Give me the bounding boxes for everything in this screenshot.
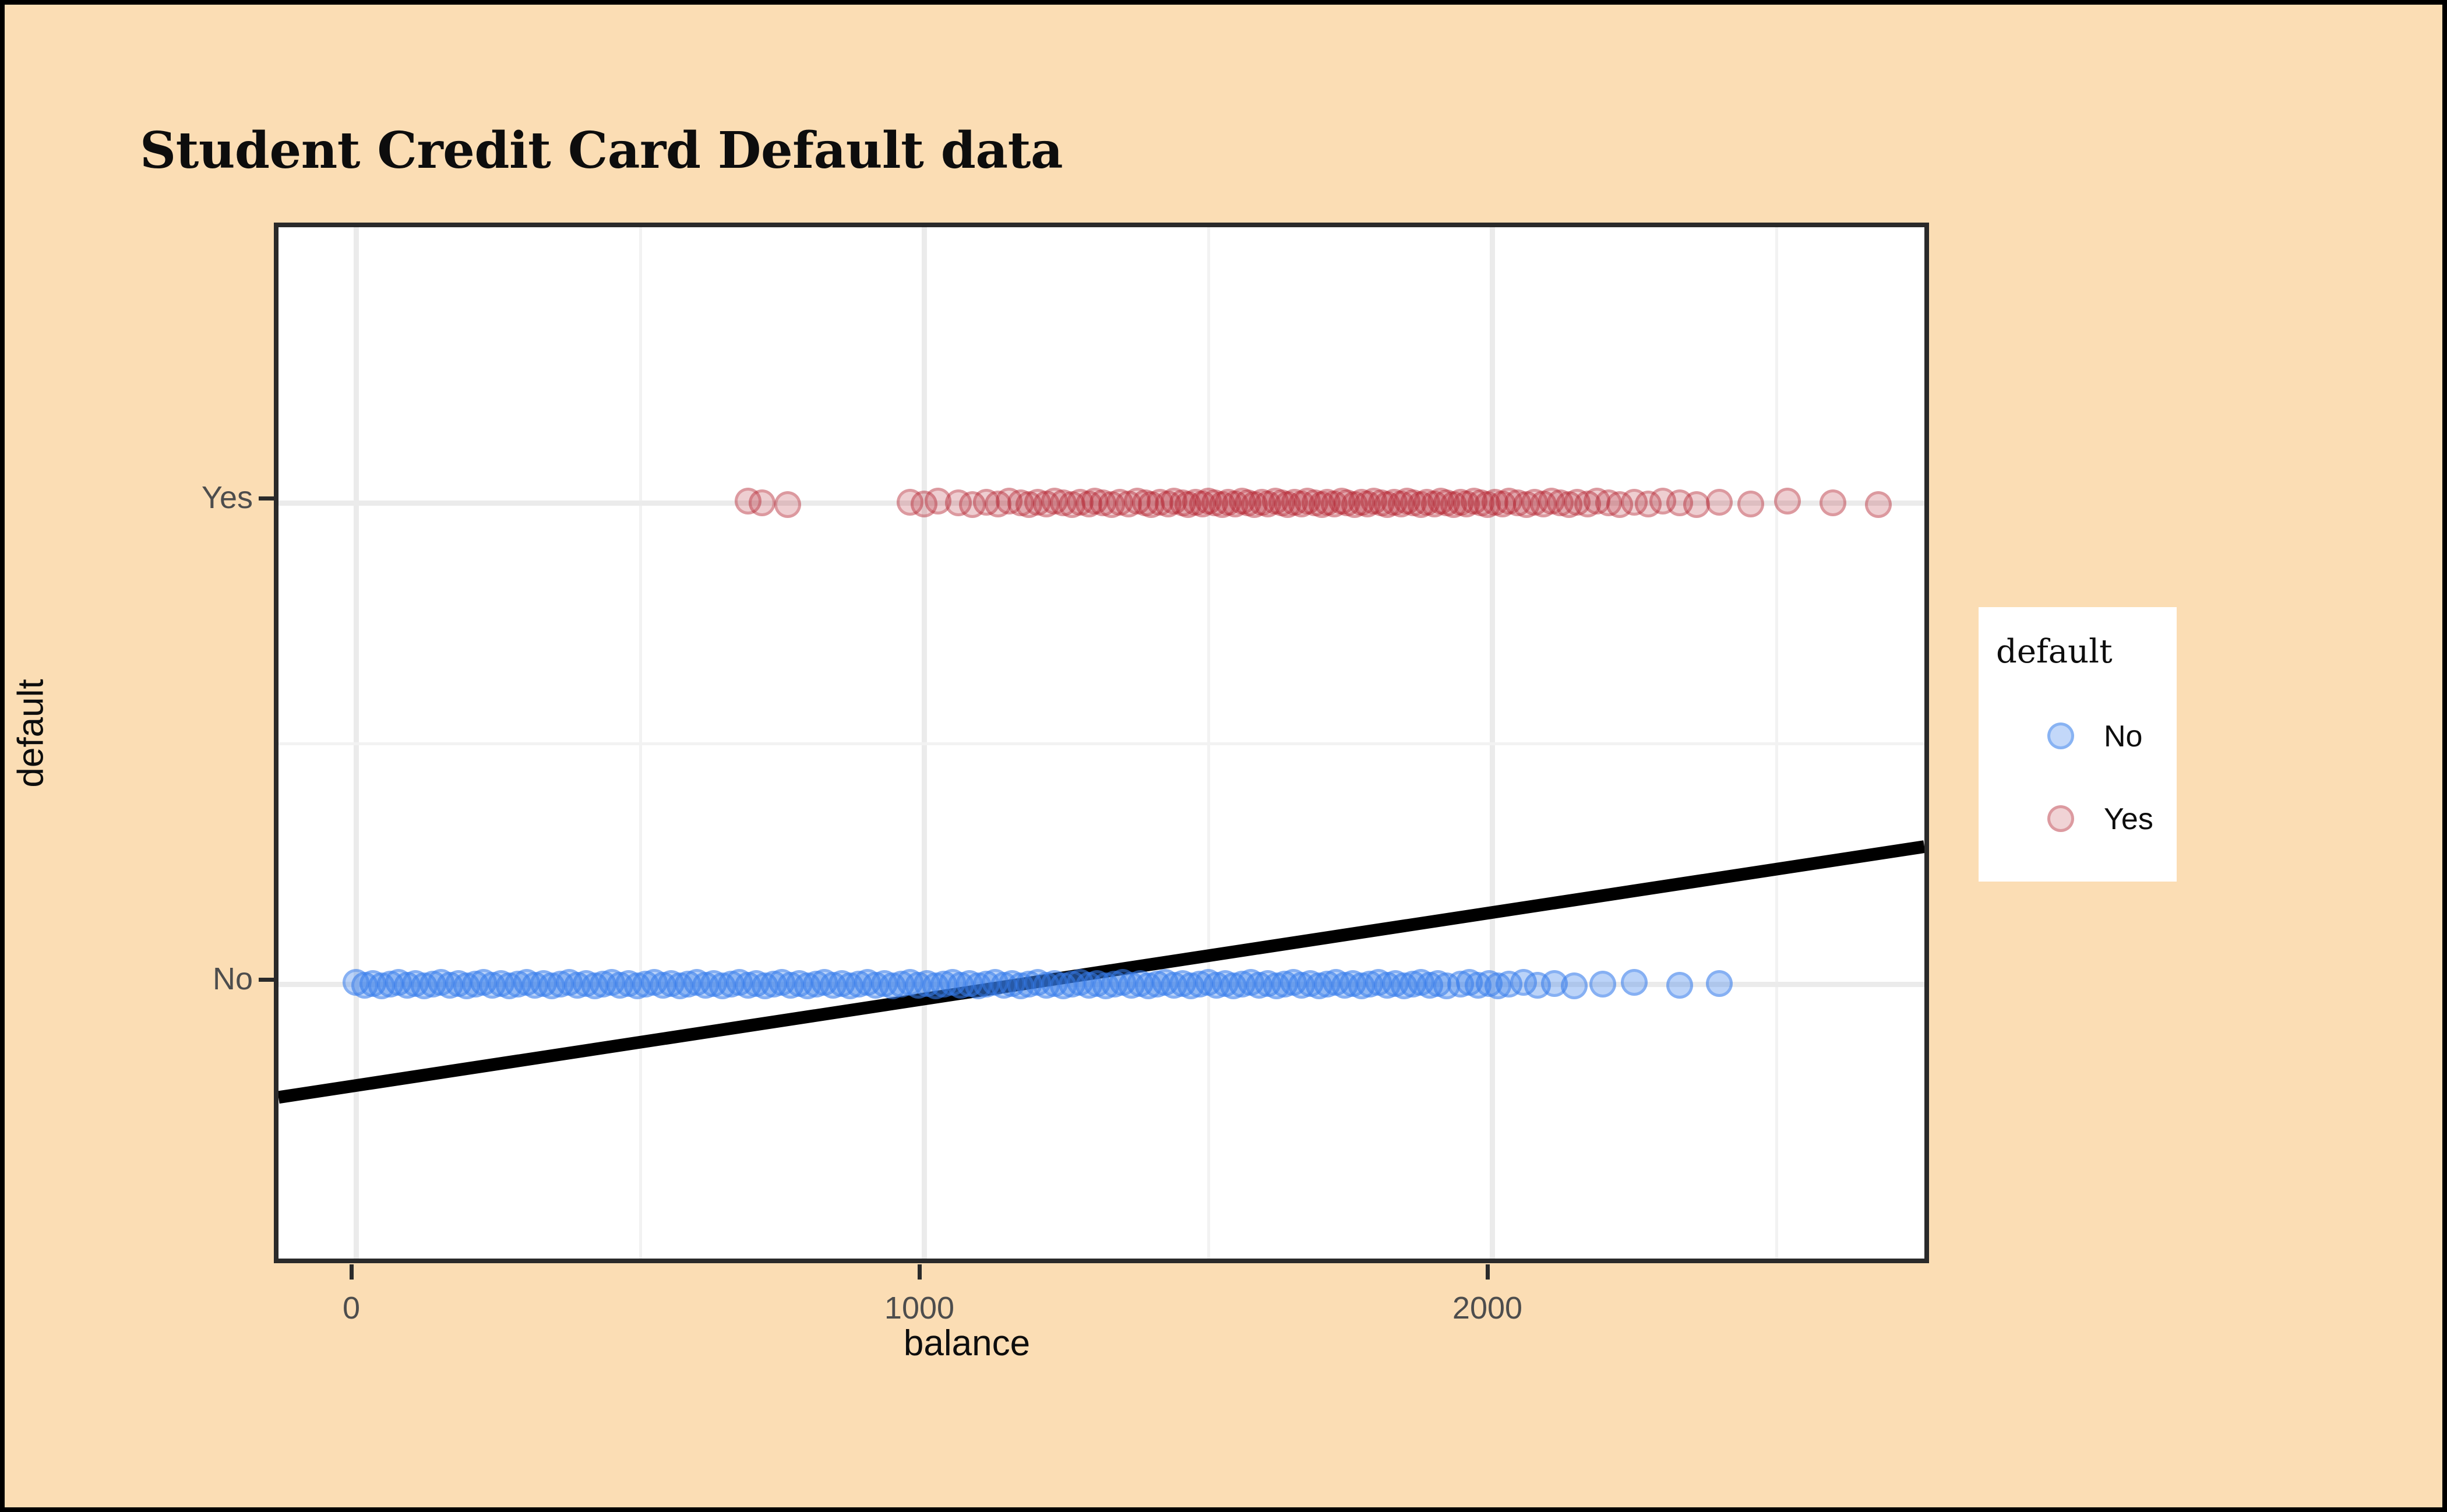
data-point-yes <box>1706 489 1733 516</box>
y-axis-label: default <box>10 442 52 1025</box>
legend-entry-yes[interactable]: Yes <box>1979 792 2177 848</box>
page-title: Student Credit Card Default data <box>140 121 1063 180</box>
y-tick-mark <box>259 496 274 501</box>
x-tick-mark <box>918 1264 922 1280</box>
data-point-no <box>1666 972 1693 999</box>
data-point-yes <box>1865 491 1892 518</box>
data-point-yes <box>774 491 801 518</box>
legend-key-yes-icon <box>2047 805 2074 832</box>
legend: default NoYes <box>1979 607 2177 882</box>
figure-root: Student Credit Card Default data 0100020… <box>0 0 2447 1512</box>
data-point-no <box>1621 969 1648 996</box>
data-point-yes <box>1774 488 1801 514</box>
x-tick-label: 1000 <box>884 1290 954 1326</box>
x-axis-label: balance <box>5 1323 1929 1364</box>
x-tick-mark <box>1486 1264 1490 1280</box>
x-tick-mark <box>350 1264 354 1280</box>
data-point-no <box>1589 971 1616 998</box>
regression-line <box>278 227 1924 1259</box>
legend-label: No <box>2104 719 2142 754</box>
data-point-yes <box>749 489 775 516</box>
legend-title: default <box>1996 633 2113 671</box>
x-tick-label: 0 <box>343 1290 360 1326</box>
y-tick-mark <box>259 978 274 982</box>
legend-key-no-icon <box>2047 722 2074 749</box>
plot-area <box>278 227 1924 1259</box>
data-point-yes <box>1737 491 1764 517</box>
figure-canvas: Student Credit Card Default data 0100020… <box>5 5 2442 1507</box>
legend-entry-no[interactable]: No <box>1979 710 2177 766</box>
y-tick-label: No <box>213 961 253 997</box>
legend-label: Yes <box>2104 802 2153 837</box>
data-point-no <box>1706 970 1733 997</box>
y-tick-label: Yes <box>202 480 253 516</box>
plot-panel <box>274 223 1929 1263</box>
data-point-yes <box>1820 489 1846 516</box>
x-tick-label: 2000 <box>1452 1290 1522 1326</box>
